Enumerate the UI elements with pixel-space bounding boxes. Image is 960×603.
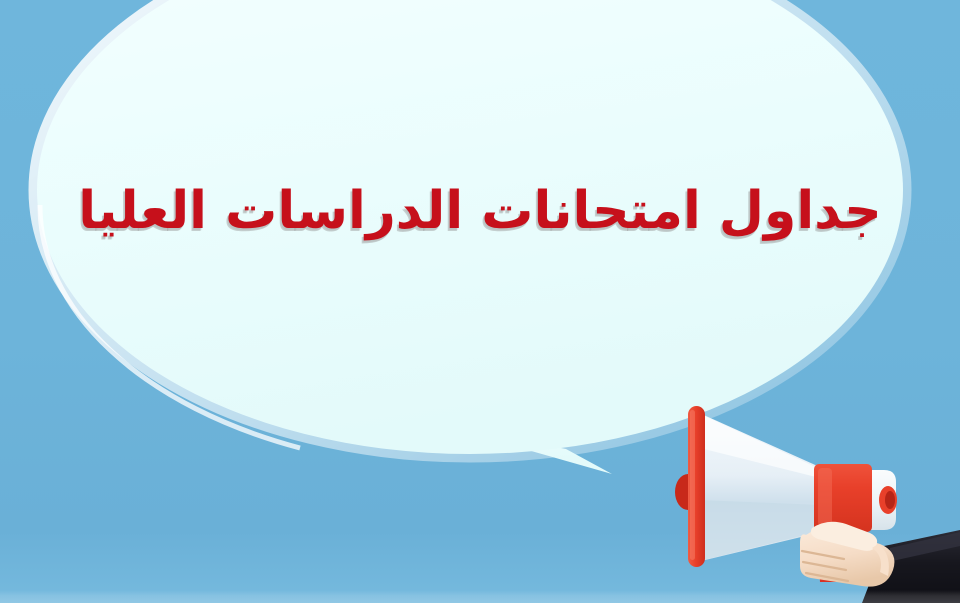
megaphone-body-highlight: [818, 468, 832, 526]
megaphone-icon: [0, 0, 960, 603]
bottom-edge-band: [0, 590, 960, 603]
megaphone-rear-nub-inner: [885, 491, 895, 509]
announcement-banner: جداول امتحانات الدراسات العليا: [0, 0, 960, 603]
megaphone-rim-highlight: [690, 410, 695, 560]
